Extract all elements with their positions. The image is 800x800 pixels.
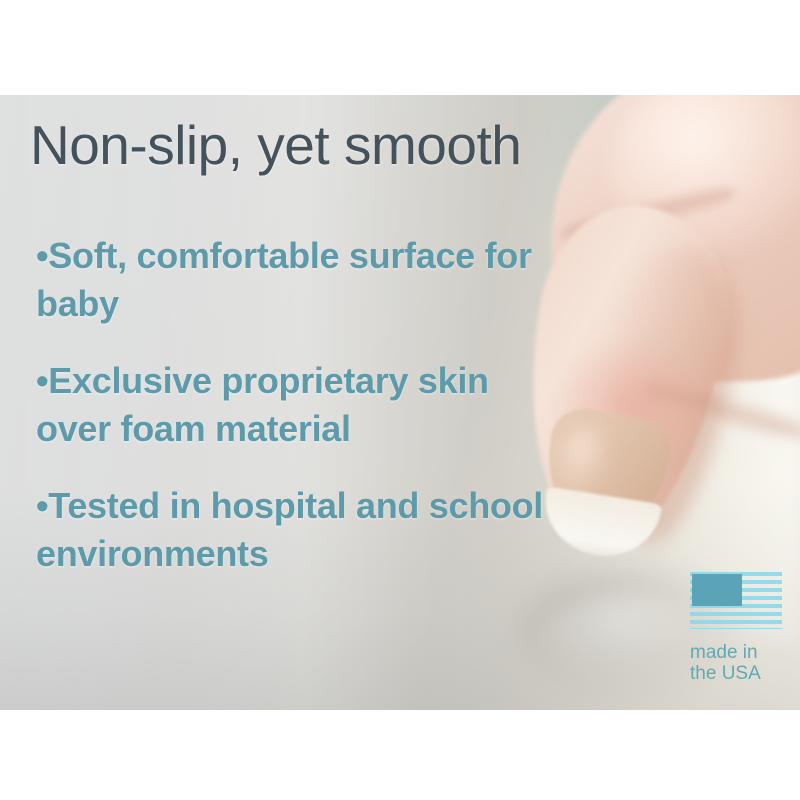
product-feature-graphic: Non-slip, yet smooth •Soft, comfortable …: [0, 0, 800, 800]
flag-canton: [692, 574, 742, 606]
feature-list: •Soft, comfortable surface for baby •Exc…: [36, 232, 556, 577]
made-in-usa-line2: the USA: [690, 663, 790, 684]
made-in-usa-label: made in the USA: [690, 642, 790, 685]
list-item: •Soft, comfortable surface for baby: [36, 232, 556, 327]
usa-flag-icon: [690, 572, 782, 629]
page-title: Non-slip, yet smooth: [30, 118, 521, 173]
made-in-usa-line1: made in: [690, 642, 790, 663]
made-in-usa-badge: made in the USA: [690, 572, 790, 697]
list-item: •Exclusive proprietary skin over foam ma…: [36, 357, 556, 452]
list-item: •Tested in hospital and school environme…: [36, 482, 556, 577]
